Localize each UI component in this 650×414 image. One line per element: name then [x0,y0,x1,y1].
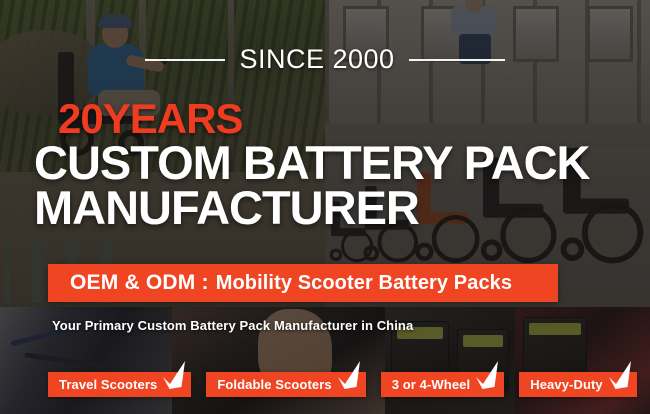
badge-label: 3 or 4-Wheel [392,378,471,391]
oem-odm-prefix: OEM & ODM : [70,271,209,295]
page-title-line2: MANUFACTURER [34,184,419,231]
badge-heavy-duty: Heavy-Duty [519,372,637,397]
check-icon [336,360,362,390]
since-row: SINCE 2000 [0,46,650,73]
oem-odm-subject: Mobility Scooter Battery Packs [216,272,512,295]
horizontal-rule-icon [409,59,505,61]
promotional-banner: SINCE 2000 20YEARS CUSTOM BATTERY PACK M… [0,0,650,414]
check-icon [607,360,633,390]
horizontal-rule-icon [145,59,225,61]
feature-badge-list: Travel Scooters Foldable Scooters 3 or 4… [48,372,637,397]
oem-odm-bar: OEM & ODM : Mobility Scooter Battery Pac… [48,264,558,302]
badge-3-or-4-wheel: 3 or 4-Wheel [381,372,505,397]
badge-label: Foldable Scooters [217,378,331,391]
tagline: Your Primary Custom Battery Pack Manufac… [52,318,413,333]
years-badge: 20YEARS [58,98,242,140]
badge-label: Heavy-Duty [530,378,603,391]
page-title-line1: CUSTOM BATTERY PACK [34,139,589,186]
banner-content: SINCE 2000 20YEARS CUSTOM BATTERY PACK M… [0,0,650,414]
badge-label: Travel Scooters [59,378,157,391]
check-icon [474,360,500,390]
badge-travel-scooters: Travel Scooters [48,372,191,397]
check-icon [161,360,187,390]
badge-foldable-scooters: Foldable Scooters [206,372,365,397]
since-label: SINCE 2000 [239,46,394,73]
